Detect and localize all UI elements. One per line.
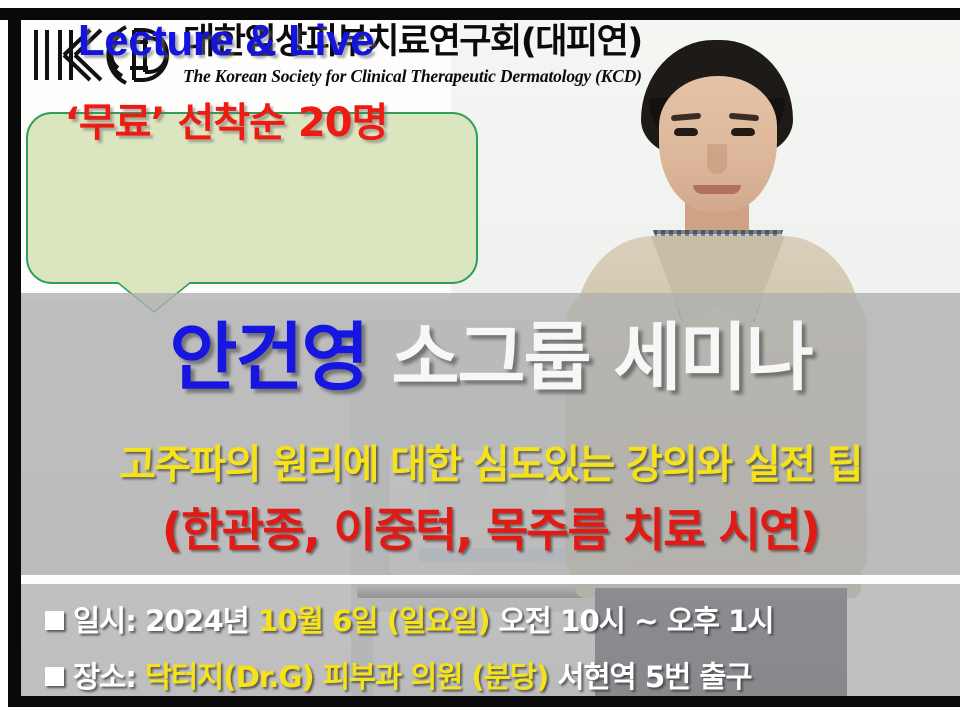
speaker-eye-right bbox=[731, 128, 755, 136]
speaker-nose bbox=[707, 144, 727, 174]
poster-frame-left bbox=[8, 8, 21, 707]
subtitle-lecture-topic: 고주파의 원리에 대한 심도있는 강의와 실전 팁 bbox=[21, 432, 960, 490]
title-event-type bbox=[368, 315, 392, 401]
place-directions: 서현역 5번 출구 bbox=[557, 660, 751, 694]
panel-divider bbox=[21, 575, 960, 584]
place-label: 장소: bbox=[73, 660, 136, 694]
square-bullet-icon bbox=[45, 611, 64, 630]
date-label: 일시: bbox=[73, 604, 136, 638]
page-title: 안건영 소그룹 세미나 bbox=[21, 310, 960, 406]
info-place-line: 장소: 닥터지(Dr.G) 피부과 의원 (분당) 서현역 5번 출구 bbox=[45, 654, 945, 696]
speaker-eye-left bbox=[674, 128, 698, 136]
title-speaker-name: 안건영 bbox=[169, 315, 367, 401]
bubble-lecture-live-text: Lecture & Live bbox=[0, 16, 452, 66]
subtitle-demo-procedures: (한관종, 이중턱, 목주름 치료 시연) bbox=[21, 494, 960, 560]
date-time-range: 오전 10시 ~ 오후 1시 bbox=[499, 604, 774, 638]
bubble-free-seats-text: ‘무료’ 선착순 20명 bbox=[0, 90, 452, 148]
society-name-english: The Korean Society for Clinical Therapeu… bbox=[183, 65, 723, 87]
speaker-mouth bbox=[693, 185, 741, 194]
date-year: 2024년 bbox=[145, 604, 249, 638]
poster-frame-top bbox=[0, 8, 960, 20]
info-date-line: 일시: 2024년 10월 6일 (일요일) 오전 10시 ~ 오후 1시 bbox=[45, 598, 945, 640]
seminar-poster: 대한임상피부치료연구회(대피연) The Korean Society for … bbox=[0, 0, 960, 720]
place-highlight: 닥터지(Dr.G) 피부과 의원 (분당) bbox=[145, 660, 548, 694]
title-event-type-text: 소그룹 세미나 bbox=[391, 315, 811, 401]
poster-frame-bottom bbox=[8, 696, 960, 707]
square-bullet-icon bbox=[45, 667, 64, 686]
date-highlight: 10월 6일 (일요일) bbox=[258, 604, 490, 638]
